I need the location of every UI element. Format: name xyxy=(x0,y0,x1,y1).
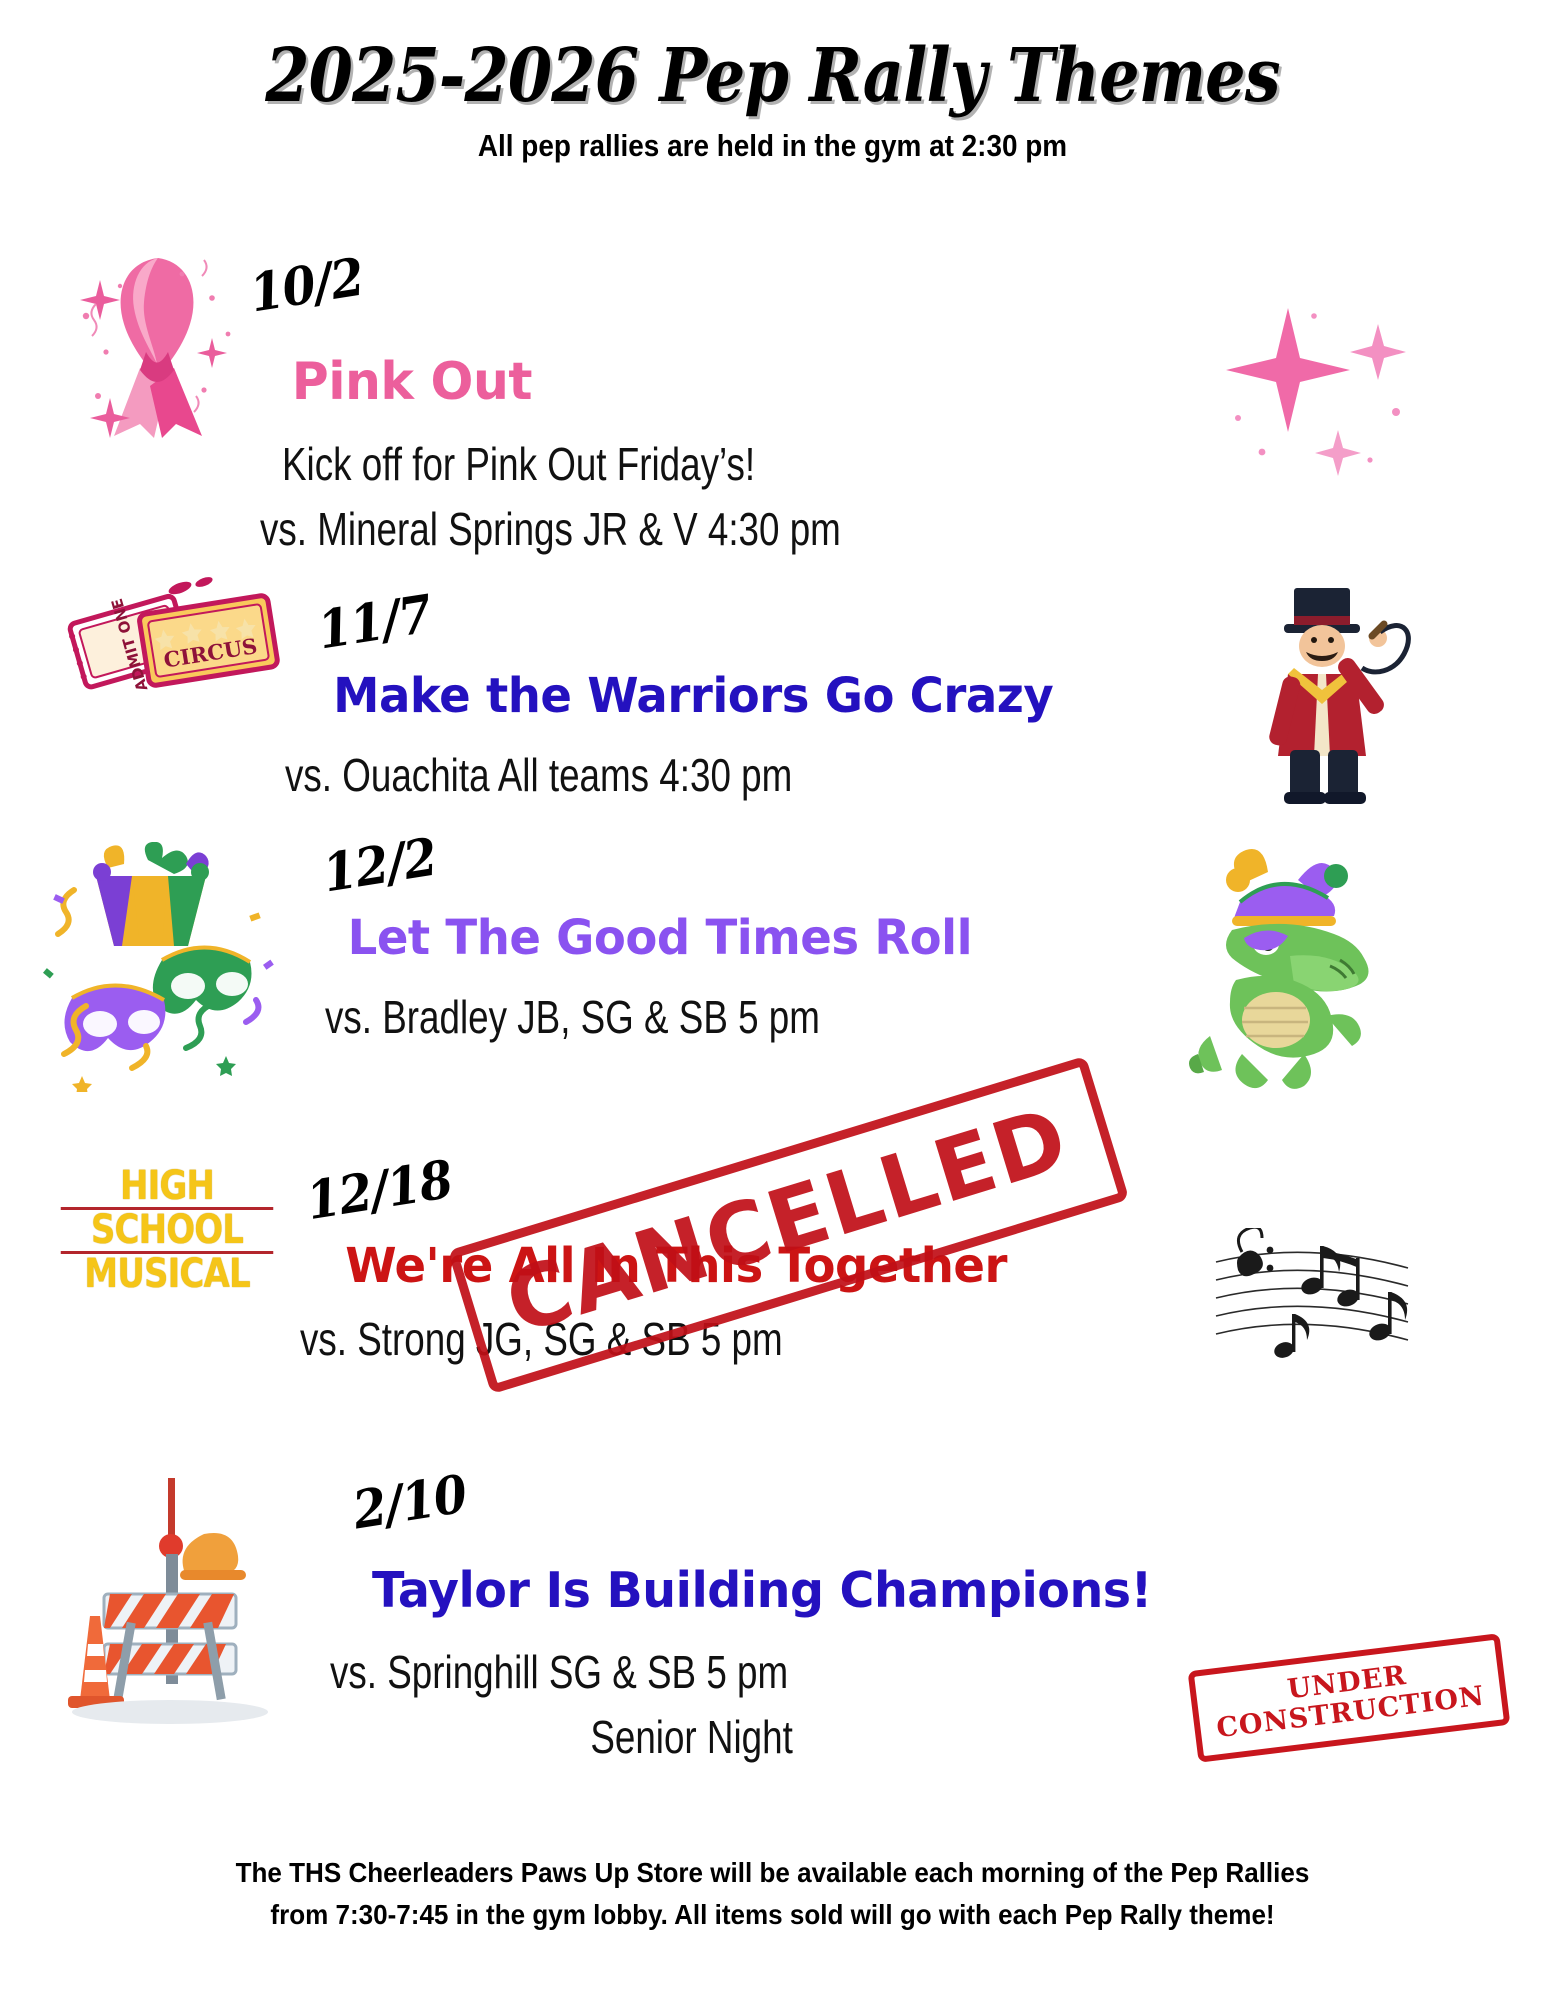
under-construction-stamp: UNDER CONSTRUCTION xyxy=(1188,1633,1511,1763)
hsm-line-1: HIGH xyxy=(61,1168,274,1205)
page-subtitle: All pep rallies are held in the gym at 2… xyxy=(77,128,1468,164)
pink-ribbon-icon xyxy=(62,240,252,440)
hsm-line-3: MUSICAL xyxy=(61,1256,274,1293)
page-title: 2025-2026 Pep Rally Themes xyxy=(108,38,1437,116)
event-detail-5-0: vs. Springhill SG & SB 5 pm xyxy=(330,1645,788,1699)
event-date-3: 12/2 xyxy=(319,826,441,904)
event-theme-2: Make the Warriors Go Crazy xyxy=(333,668,1053,724)
jester-alligator-icon xyxy=(1180,840,1400,1100)
footer-line-2: from 7:30-7:45 in the gym lobby. All ite… xyxy=(54,1894,1491,1936)
construction-barricade-icon xyxy=(58,1468,278,1728)
status-badge-cancelled: CANCELLED xyxy=(448,1056,1130,1395)
event-detail-5-1: Senior Night xyxy=(590,1710,793,1764)
circus-tickets-icon: ADMIT ONE CIRCUS xyxy=(62,560,302,710)
mardi-gras-masks-icon xyxy=(36,842,296,1092)
event-theme-3: Let The Good Times Roll xyxy=(348,910,972,966)
event-theme-1: Pink Out xyxy=(292,352,532,412)
hsm-line-2: SCHOOL xyxy=(61,1212,274,1249)
event-theme-5: Taylor Is Building Champions! xyxy=(372,1562,1152,1619)
music-notes-icon xyxy=(1212,1228,1412,1388)
event-detail-3-0: vs. Bradley JB, SG & SB 5 pm xyxy=(325,990,820,1044)
pep-rally-flyer: 2025-2026 Pep Rally Themes All pep ralli… xyxy=(0,0,1545,2000)
footer-line-1: The THS Cheerleaders Paws Up Store will … xyxy=(54,1852,1491,1894)
event-detail-1-0: Kick off for Pink Out Friday’s! xyxy=(282,437,755,491)
event-detail-2-0: vs. Ouachita All teams 4:30 pm xyxy=(285,748,792,802)
event-date-4: 12/18 xyxy=(302,1149,456,1232)
sparkles-icon xyxy=(1218,300,1428,490)
ringmaster-icon xyxy=(1232,580,1422,810)
event-date-5: 2/10 xyxy=(349,1463,471,1541)
flyer-header: 2025-2026 Pep Rally Themes All pep ralli… xyxy=(0,38,1545,164)
high-school-musical-icon: HIGH SCHOOL MUSICAL xyxy=(61,1168,274,1292)
event-date-2: 11/7 xyxy=(314,583,436,661)
event-detail-1-1: vs. Mineral Springs JR & V 4:30 pm xyxy=(260,502,841,556)
event-date-1: 10/2 xyxy=(246,246,368,324)
footer-note: The THS Cheerleaders Paws Up Store will … xyxy=(54,1852,1491,1936)
